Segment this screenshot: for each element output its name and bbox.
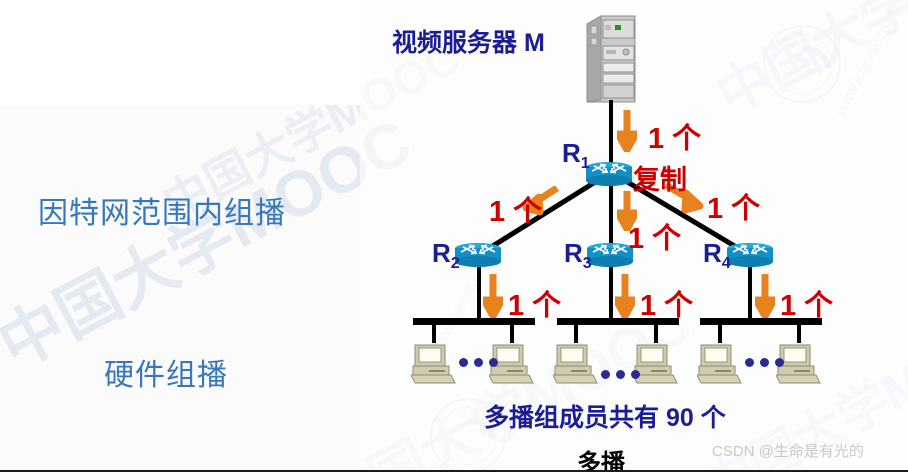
lan-ellipsis-1 (459, 358, 498, 367)
router-label-r1-name: R (562, 138, 581, 168)
ellipsis-dot (616, 370, 625, 379)
link-r3-lan (609, 262, 613, 322)
router-label-r1-index: 1 (581, 154, 590, 172)
router-label-r1: R1 (562, 138, 590, 173)
router-label-r2-index: 2 (451, 254, 460, 272)
ellipsis-dot (760, 358, 769, 367)
replicate-label: 复制 (633, 158, 687, 197)
packet-count-server-r1: 1 个 (648, 115, 701, 157)
host-drop-3a (718, 325, 722, 343)
router-label-r3-name: R (564, 238, 583, 268)
server-tower-icon (583, 12, 639, 108)
packet-count-r3-lan: 1 个 (640, 282, 693, 324)
video-server-label: 视频服务器 M (392, 23, 545, 59)
router-label-r3-index: 3 (583, 254, 592, 272)
router-icon-r4[interactable] (727, 243, 773, 267)
ellipsis-dot (601, 370, 610, 379)
router-label-r4-index: 4 (722, 254, 731, 272)
packet-count-r1-r2: 1 个 (489, 188, 542, 230)
packet-count-r2-lan: 1 个 (508, 282, 561, 324)
ellipsis-dot (775, 358, 784, 367)
lan-ellipsis-3 (745, 358, 784, 367)
packet-count-r1-r3: 1 个 (628, 215, 681, 257)
group-total-label: 多播组成员共有 90 个 (484, 398, 726, 434)
top-left-white-panel (0, 0, 360, 105)
host-drop-3b (797, 325, 801, 343)
ellipsis-dot (631, 370, 640, 379)
router-icon-r2[interactable] (455, 243, 501, 267)
ellipsis-dot (459, 358, 468, 367)
packet-count-r4-lan: 1 个 (780, 282, 833, 324)
host-drop-1b (510, 325, 514, 343)
router-label-r4: R4 (703, 238, 731, 273)
caption-hardware-multicast: 硬件组播 (104, 350, 228, 394)
router-icon-r1[interactable] (586, 162, 632, 186)
router-icon-r3[interactable] (587, 243, 633, 267)
caption-internet-multicast: 因特网范围内组播 (38, 188, 286, 232)
host-drop-2b (654, 325, 658, 343)
host-drop-1a (432, 325, 436, 343)
router-label-r2-name: R (432, 238, 451, 268)
ellipsis-dot (474, 358, 483, 367)
host-icon-1a (411, 343, 457, 383)
flow-arrow-r3-lan (615, 274, 635, 318)
ellipsis-dot (745, 358, 754, 367)
router-label-r3: R3 (564, 238, 592, 273)
host-icon-3a (697, 343, 743, 383)
flow-arrow-r4-lan (755, 274, 775, 318)
flow-arrow-server-r1 (617, 110, 637, 152)
host-drop-2a (574, 325, 578, 343)
router-label-r4-name: R (703, 238, 722, 268)
link-r4-lan (748, 262, 752, 322)
packet-count-r1-r4: 1 个 (707, 185, 760, 227)
host-icon-2a (553, 343, 599, 383)
footer-multicast-label: 多播 (577, 443, 625, 472)
link-r2-lan (477, 262, 481, 322)
ellipsis-dot (489, 358, 498, 367)
lan-ellipsis-2 (601, 370, 640, 379)
flow-arrow-r2-lan (483, 274, 503, 318)
router-label-r2: R2 (432, 238, 460, 273)
slide-canvas: 中国大学MOOC 中国大学MOOC 中国大学MOOC 中国大学MOOC 中国大学… (0, 0, 908, 472)
csdn-credit: CSDN @生命是有光的 (712, 440, 864, 461)
